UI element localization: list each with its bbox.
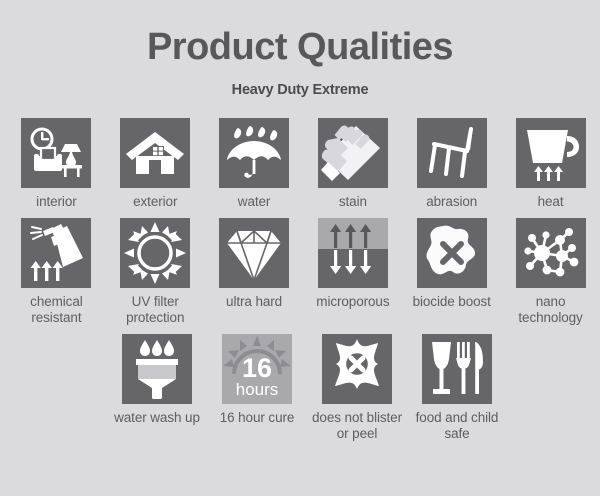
quality-label: interior xyxy=(8,194,104,210)
quality-label: abrasion xyxy=(404,194,500,210)
quality-label: biocide boost xyxy=(404,294,500,310)
glass-fork-knife-icon xyxy=(422,334,492,404)
quality-item-heat[interactable]: heat xyxy=(501,118,600,210)
burst-x-icon xyxy=(322,334,392,404)
quality-item-uv-filter[interactable]: UV filter protection xyxy=(106,218,205,326)
qualities-row: water wash up xyxy=(0,334,600,442)
spray-bottle-icon xyxy=(21,218,91,288)
chair-icon xyxy=(417,118,487,188)
quality-item-abrasion[interactable]: abrasion xyxy=(402,118,501,210)
cure-number: 16 xyxy=(242,353,272,383)
quality-label: ultra hard xyxy=(206,294,302,310)
quality-label: chemical resistant xyxy=(8,294,104,326)
quality-label: heat xyxy=(503,194,599,210)
cure-unit: hours xyxy=(236,380,279,399)
qualities-row: interior xyxy=(0,118,600,210)
quality-item-nano-technology[interactable]: nano technology xyxy=(501,218,600,326)
qualities-row: chemical resistant xyxy=(0,218,600,326)
product-qualities-page: Product Qualities Heavy Duty Extreme xyxy=(0,0,600,496)
molecule-icon xyxy=(516,218,586,288)
umbrella-rain-icon xyxy=(219,118,289,188)
quality-item-ultra-hard[interactable]: ultra hard xyxy=(205,218,304,326)
cup-heat-icon xyxy=(516,118,586,188)
quality-label: stain xyxy=(305,194,401,210)
up-down-arrows-icon xyxy=(318,218,388,288)
diamond-icon xyxy=(219,218,289,288)
qualities-grid: interior xyxy=(0,118,600,442)
quality-label: 16 hour cure xyxy=(209,410,305,426)
quality-label: water xyxy=(206,194,302,210)
blob-x-icon xyxy=(417,218,487,288)
page-subtitle: Heavy Duty Extreme xyxy=(0,68,600,98)
quality-item-16-hour-cure[interactable]: 16 hours 16 hour cure xyxy=(207,334,307,442)
sixteen-hours-icon: 16 hours xyxy=(222,334,292,404)
quality-item-stain[interactable]: stain xyxy=(303,118,402,210)
quality-item-food-child-safe[interactable]: food and child safe xyxy=(407,334,507,442)
quality-item-water[interactable]: water xyxy=(205,118,304,210)
quality-label: food and child safe xyxy=(409,410,505,442)
house-icon xyxy=(120,118,190,188)
quality-label: microporous xyxy=(305,294,401,310)
quality-item-water-wash-up[interactable]: water wash up xyxy=(107,334,207,442)
quality-label: UV filter protection xyxy=(107,294,203,326)
quality-item-exterior[interactable]: exterior xyxy=(106,118,205,210)
quality-label: does not blister or peel xyxy=(309,410,405,442)
page-title: Product Qualities xyxy=(0,0,600,68)
paintbrush-drops-icon xyxy=(122,334,192,404)
quality-label: water wash up xyxy=(109,410,205,426)
interior-icon xyxy=(21,118,91,188)
sun-icon xyxy=(120,218,190,288)
quality-item-chemical-resistant[interactable]: chemical resistant xyxy=(7,218,106,326)
quality-item-does-not-blister[interactable]: does not blister or peel xyxy=(307,334,407,442)
quality-label: exterior xyxy=(107,194,203,210)
hand-cloth-icon xyxy=(318,118,388,188)
quality-item-microporous[interactable]: microporous xyxy=(303,218,402,326)
quality-item-biocide-boost[interactable]: biocide boost xyxy=(402,218,501,326)
quality-item-interior[interactable]: interior xyxy=(7,118,106,210)
quality-label: nano technology xyxy=(503,294,599,326)
